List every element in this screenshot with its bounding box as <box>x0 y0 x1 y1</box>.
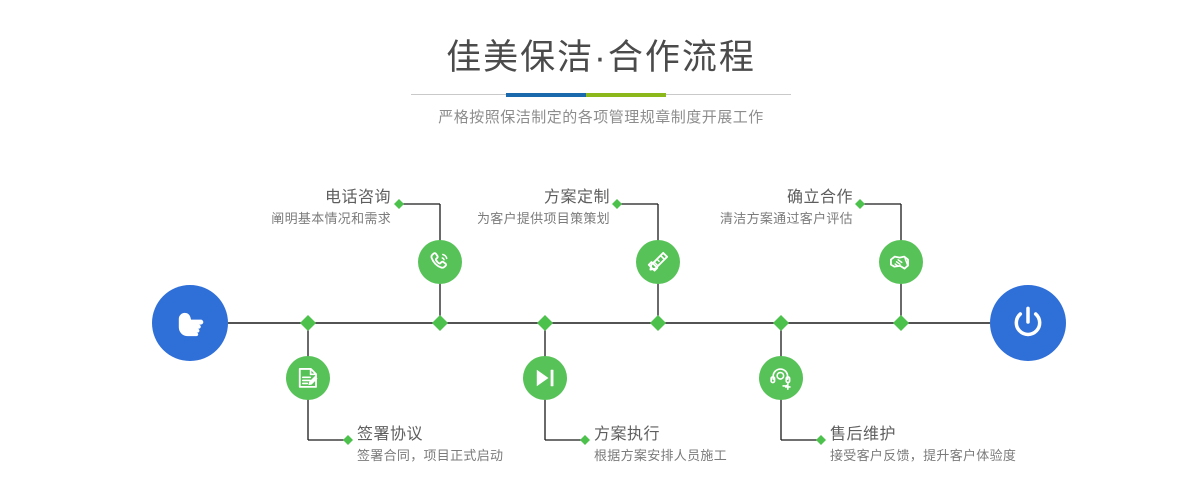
step-desc-1: 阐明基本情况和需求 <box>159 209 391 228</box>
step-icon-3[interactable] <box>636 240 680 284</box>
step-title-6: 售后维护 <box>830 425 1090 445</box>
step-title-1: 电话咨询 <box>159 188 391 208</box>
step-icon-2[interactable] <box>286 356 330 400</box>
step-label-1: 电话咨询 阐明基本情况和需求 <box>159 188 391 228</box>
diamond-marker-step-6 <box>773 315 789 331</box>
handshake-icon <box>888 249 915 276</box>
step-desc-6: 接受客户反馈，提升客户体验度 <box>830 446 1090 465</box>
diamond-marker-step-3 <box>650 315 666 331</box>
step-icon-1[interactable] <box>418 240 462 284</box>
process-flow-infographic: 佳美保洁·合作流程 严格按照保洁制定的各项管理规章制度开展工作 <box>0 0 1202 502</box>
step-icon-5[interactable] <box>879 240 923 284</box>
document-edit-icon <box>295 365 321 391</box>
pencil-ruler-icon <box>645 249 671 275</box>
step-label-2: 签署协议 签署合同，项目正式启动 <box>357 425 597 465</box>
power-icon <box>1008 303 1048 343</box>
customer-service-add-icon <box>768 365 795 392</box>
step-desc-2: 签署合同，项目正式启动 <box>357 446 597 465</box>
step-icon-4[interactable] <box>523 356 567 400</box>
hand-pointing-right-icon <box>169 302 211 344</box>
label-diamond-step-2 <box>343 435 353 445</box>
step-title-3: 方案定制 <box>382 188 610 208</box>
step-label-4: 方案执行 根据方案安排人员施工 <box>594 425 834 465</box>
step-desc-3: 为客户提供项目策策划 <box>382 209 610 228</box>
play-next-icon <box>532 365 558 391</box>
step-label-6: 售后维护 接受客户反馈，提升客户体验度 <box>830 425 1090 465</box>
step-title-2: 签署协议 <box>357 425 597 445</box>
diamond-marker-step-1 <box>432 315 448 331</box>
step-label-3: 方案定制 为客户提供项目策策划 <box>382 188 610 228</box>
diamond-marker-step-4 <box>537 315 553 331</box>
step-desc-5: 清洁方案通过客户评估 <box>627 209 853 228</box>
flow-start-node[interactable] <box>152 285 228 361</box>
diamond-marker-step-5 <box>893 315 909 331</box>
diamond-marker-step-2 <box>300 315 316 331</box>
label-diamond-step-5 <box>855 199 865 209</box>
flow-end-node[interactable] <box>990 285 1066 361</box>
flow-diagram: 电话咨询 阐明基本情况和需求 方案定制 为客户提供项目策策划 确立合作 清洁方案… <box>0 0 1202 502</box>
label-diamond-step-3 <box>612 199 622 209</box>
step-title-5: 确立合作 <box>627 188 853 208</box>
phone-call-icon <box>427 249 453 275</box>
step-label-5: 确立合作 清洁方案通过客户评估 <box>627 188 853 228</box>
step-icon-6[interactable] <box>759 356 803 400</box>
step-desc-4: 根据方案安排人员施工 <box>594 446 834 465</box>
step-title-4: 方案执行 <box>594 425 834 445</box>
